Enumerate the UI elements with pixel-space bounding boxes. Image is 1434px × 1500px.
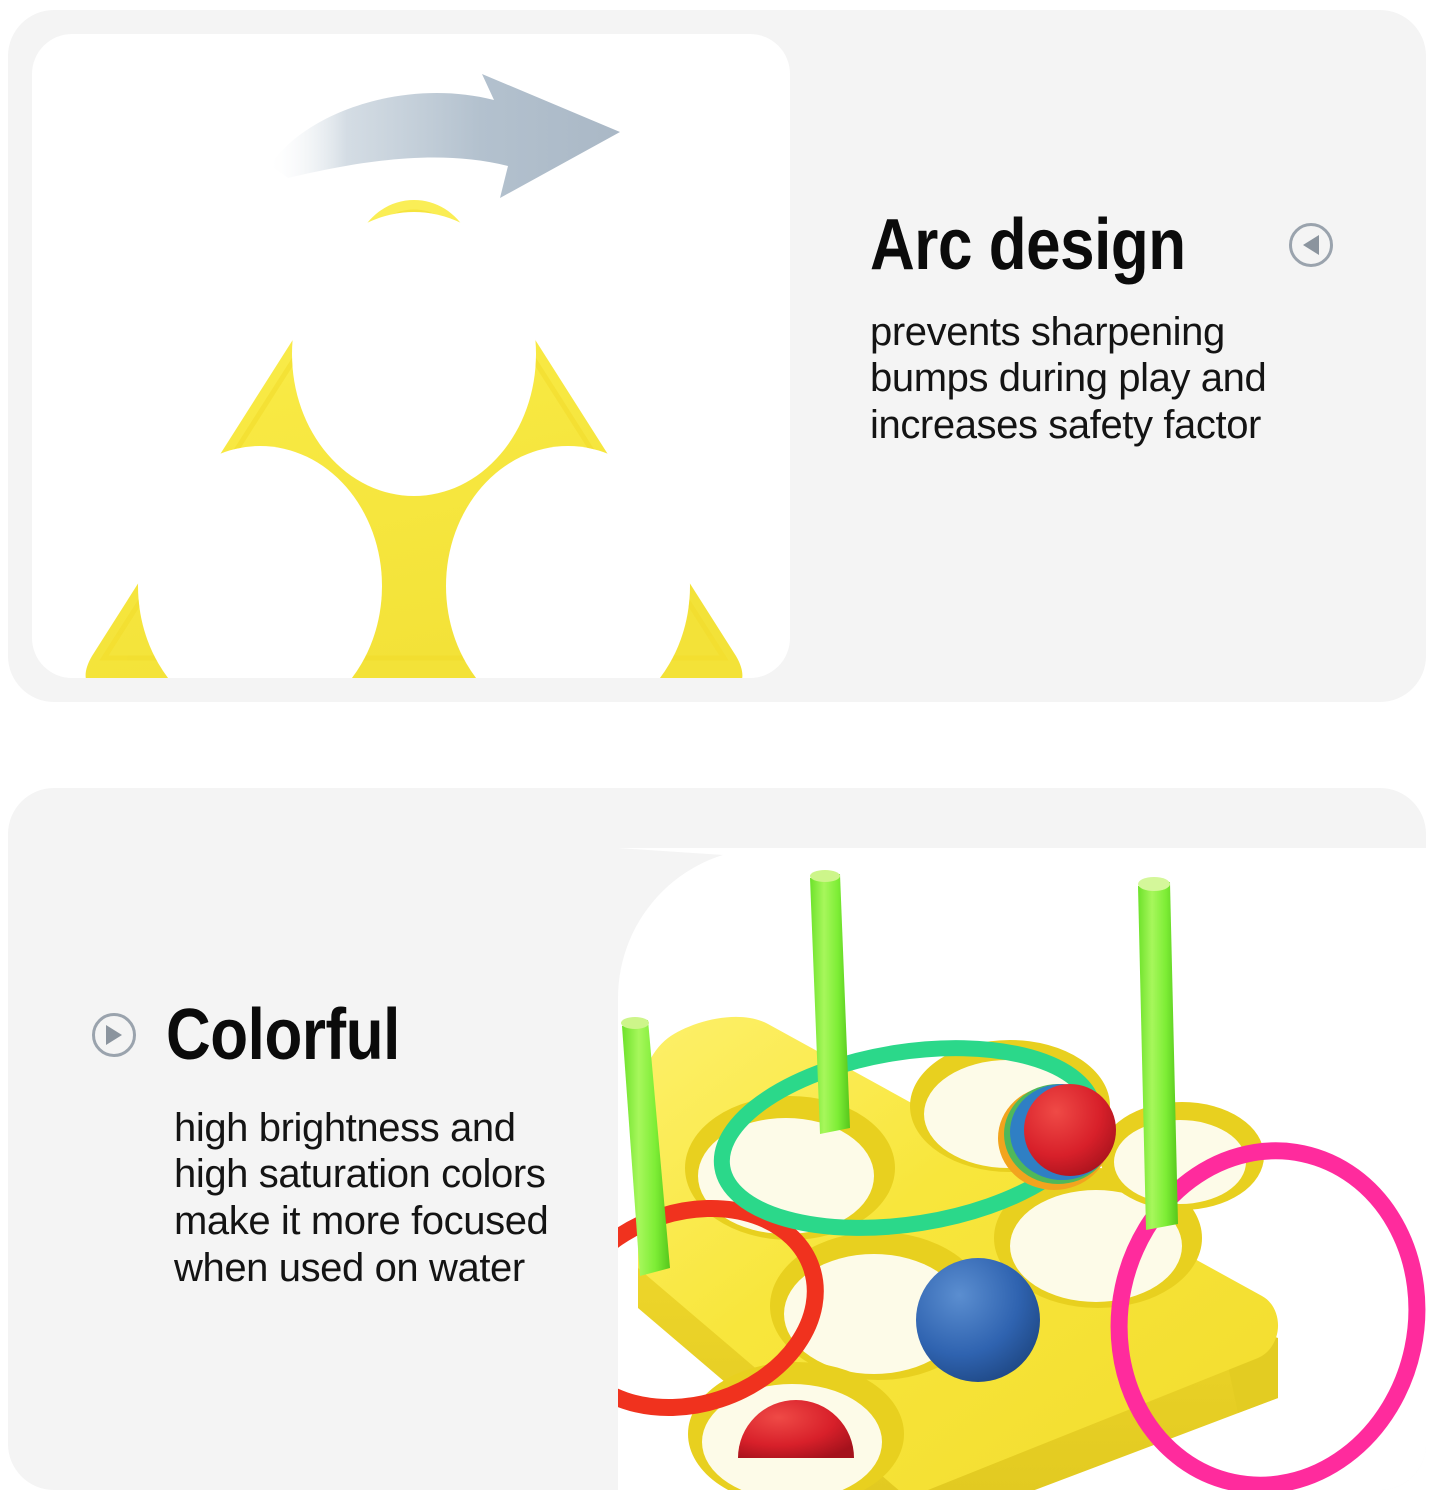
arc-design-illustration	[32, 34, 790, 678]
triangle-left-glyph	[1303, 235, 1319, 255]
colorful-product-photo	[618, 848, 1426, 1490]
triangle-right-glyph	[106, 1025, 122, 1045]
infographic-page: Arc design prevents sharpening bumps dur…	[0, 0, 1434, 1500]
colorful-text-block: Colorful high brightness and high satura…	[92, 1000, 612, 1292]
play-left-icon[interactable]	[1289, 223, 1333, 267]
arc-design-headline: Arc design	[870, 210, 1186, 281]
play-right-icon[interactable]	[92, 1013, 136, 1057]
triangular-board-shape	[64, 194, 764, 678]
arc-headline-row: Arc design	[870, 210, 1400, 281]
ball-blue	[916, 1258, 1040, 1382]
panel-arc-design: Arc design prevents sharpening bumps dur…	[8, 10, 1426, 702]
arc-design-body-text: prevents sharpening bumps during play an…	[870, 309, 1350, 449]
colorful-headline: Colorful	[166, 1000, 400, 1071]
colorful-headline-row: Colorful	[92, 1000, 612, 1071]
colorful-body-text: high brightness and high saturation colo…	[174, 1105, 574, 1292]
arc-design-text-block: Arc design prevents sharpening bumps dur…	[870, 210, 1400, 449]
panel-colorful: Colorful high brightness and high satura…	[8, 788, 1426, 1490]
